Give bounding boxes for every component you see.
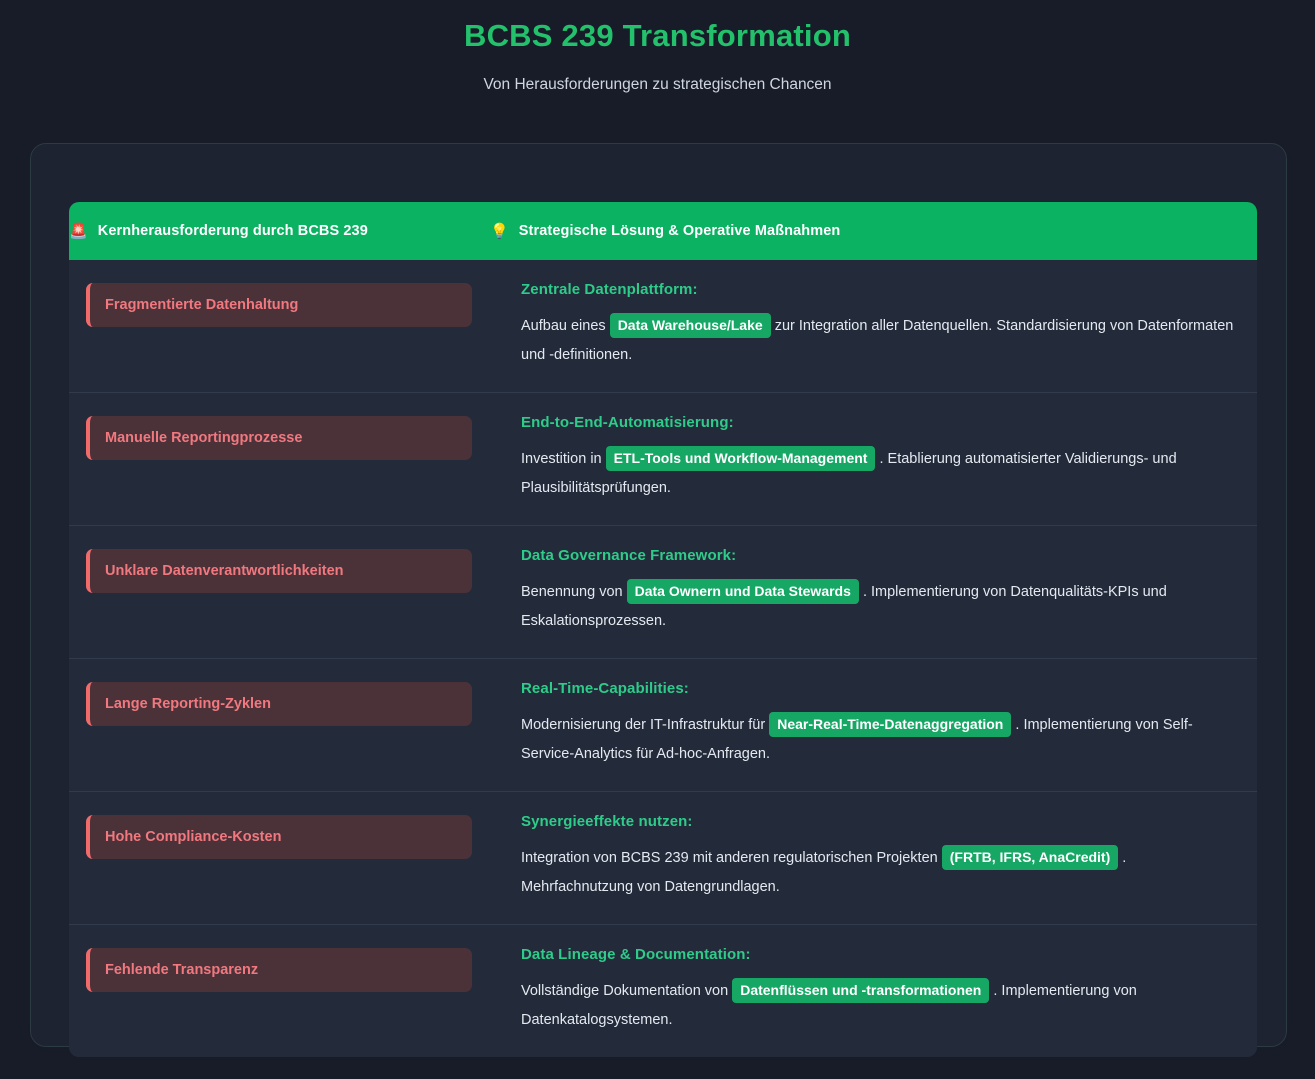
column-header-challenge: 🚨Kernherausforderung durch BCBS 239 [69,202,490,260]
challenge-cell: Fragmentierte Datenhaltung [69,260,490,392]
page-header: BCBS 239 Transformation Von Herausforder… [0,0,1315,96]
solution-body: Aufbau eines Data Warehouse/Lake zur Int… [521,318,1233,363]
table-header-row: 🚨Kernherausforderung durch BCBS 239 💡Str… [69,202,1257,260]
table-head: 🚨Kernherausforderung durch BCBS 239 💡Str… [69,202,1257,260]
solution-tag: Datenflüssen und -transformationen [732,978,989,1003]
solution-body: Investition in ETL-Tools und Workflow-Ma… [521,451,1177,496]
content-card: 🚨Kernherausforderung durch BCBS 239 💡Str… [30,143,1287,1047]
solution-tag: Data Ownern und Data Stewards [627,579,859,604]
challenge-pill: Hohe Compliance-Kosten [86,815,472,859]
solution-text-before: Aufbau eines [521,318,606,334]
solution-tag: ETL-Tools und Workflow-Management [606,446,876,471]
challenge-cell: Unklare Datenverantwortlichkeiten [69,525,490,658]
page-subtitle: Von Herausforderungen zu strategischen C… [0,58,1315,96]
table-row: Manuelle Reportingprozesse End-to-End-Au… [69,392,1257,525]
solution-title: Zentrale Datenplattform: [521,280,1235,300]
challenge-pill: Fragmentierte Datenhaltung [86,283,472,327]
solution-tag: Near-Real-Time-Datenaggregation [769,712,1011,737]
challenge-solution-table: 🚨Kernherausforderung durch BCBS 239 💡Str… [69,202,1257,1057]
challenge-cell: Manuelle Reportingprozesse [69,392,490,525]
solution-body: Vollständige Dokumentation von Datenflüs… [521,983,1137,1028]
challenge-cell: Hohe Compliance-Kosten [69,791,490,924]
table-row: Fragmentierte Datenhaltung Zentrale Date… [69,260,1257,392]
solution-cell: Synergieeffekte nutzen: Integration von … [490,791,1257,924]
solution-title: Real-Time-Capabilities: [521,679,1235,699]
solution-cell: Data Governance Framework: Benennung von… [490,525,1257,658]
solution-text-before: Vollständige Dokumentation von [521,983,728,999]
table-row: Hohe Compliance-Kosten Synergieeffekte n… [69,791,1257,924]
solution-tag: (FRTB, IFRS, AnaCredit) [942,845,1118,870]
table-row: Fehlende Transparenz Data Lineage & Docu… [69,924,1257,1057]
challenge-pill: Lange Reporting-Zyklen [86,682,472,726]
challenge-pill: Manuelle Reportingprozesse [86,416,472,460]
solution-cell: End-to-End-Automatisierung: Investition … [490,392,1257,525]
challenge-pill: Fehlende Transparenz [86,948,472,992]
solution-cell: Zentrale Datenplattform: Aufbau eines Da… [490,260,1257,392]
challenge-pill: Unklare Datenverantwortlichkeiten [86,549,472,593]
page-title: BCBS 239 Transformation [0,14,1315,58]
lightbulb-icon: 💡 [490,224,509,239]
solution-cell: Real-Time-Capabilities: Modernisierung d… [490,658,1257,791]
solution-title: Data Governance Framework: [521,546,1235,566]
column-header-solution-label: Strategische Lösung & Operative Maßnahme… [519,223,841,239]
table-row: Lange Reporting-Zyklen Real-Time-Capabil… [69,658,1257,791]
solution-title: Data Lineage & Documentation: [521,945,1235,965]
solution-body: Benennung von Data Ownern und Data Stewa… [521,584,1167,629]
solution-text-before: Investition in [521,451,602,467]
challenge-cell: Lange Reporting-Zyklen [69,658,490,791]
table-row: Unklare Datenverantwortlichkeiten Data G… [69,525,1257,658]
solution-body: Modernisierung der IT-Infrastruktur für … [521,717,1193,762]
solution-tag: Data Warehouse/Lake [610,313,771,338]
column-header-solution: 💡Strategische Lösung & Operative Maßnahm… [490,202,1257,260]
column-header-challenge-label: Kernherausforderung durch BCBS 239 [98,223,368,239]
page-root: BCBS 239 Transformation Von Herausforder… [0,0,1315,1079]
solution-text-before: Benennung von [521,584,623,600]
table-body: Fragmentierte Datenhaltung Zentrale Date… [69,260,1257,1057]
siren-icon: 🚨 [69,224,88,239]
solution-title: End-to-End-Automatisierung: [521,413,1235,433]
solution-text-before: Integration von BCBS 239 mit anderen reg… [521,850,938,866]
solution-body: Integration von BCBS 239 mit anderen reg… [521,850,1126,895]
solution-cell: Data Lineage & Documentation: Vollständi… [490,924,1257,1057]
solution-text-before: Modernisierung der IT-Infrastruktur für [521,717,765,733]
solution-title: Synergieeffekte nutzen: [521,812,1235,832]
challenge-cell: Fehlende Transparenz [69,924,490,1057]
